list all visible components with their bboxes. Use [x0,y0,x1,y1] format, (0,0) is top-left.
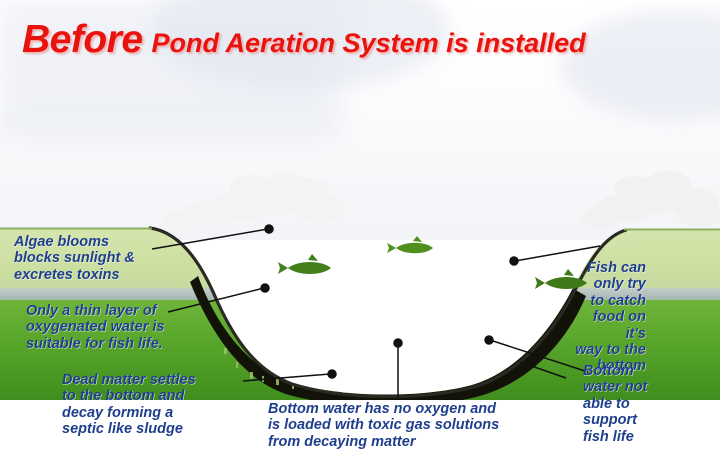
title-rest: Pond Aeration System is installed [152,28,586,58]
callout-fish-catch-food: Fish can only try to catch food on it's … [572,260,646,375]
title-emphasis: Before [22,18,143,61]
diagram-canvas: BeforePond Aeration System is installed [0,0,720,453]
callout-dead-matter: Dead matter settles to the bottom and de… [62,372,196,438]
aquatic-weeds [267,316,432,386]
callout-bottom-water-support: Bottom water not able to support fish li… [583,363,647,445]
fish-1 [278,254,331,274]
fish-2 [387,236,433,253]
cloud-left [162,172,346,230]
callout-bottom-water-toxic: Bottom water has no oxygen and is loaded… [268,401,499,450]
callout-thin-layer: Only a thin layer of oxygenated water is… [26,303,165,352]
callout-algae-blooms: Algae blooms blocks sunlight & excretes … [14,234,135,283]
water-texture [190,245,580,320]
page-title: BeforePond Aeration System is installed [22,18,586,62]
cloud-right [582,171,720,228]
